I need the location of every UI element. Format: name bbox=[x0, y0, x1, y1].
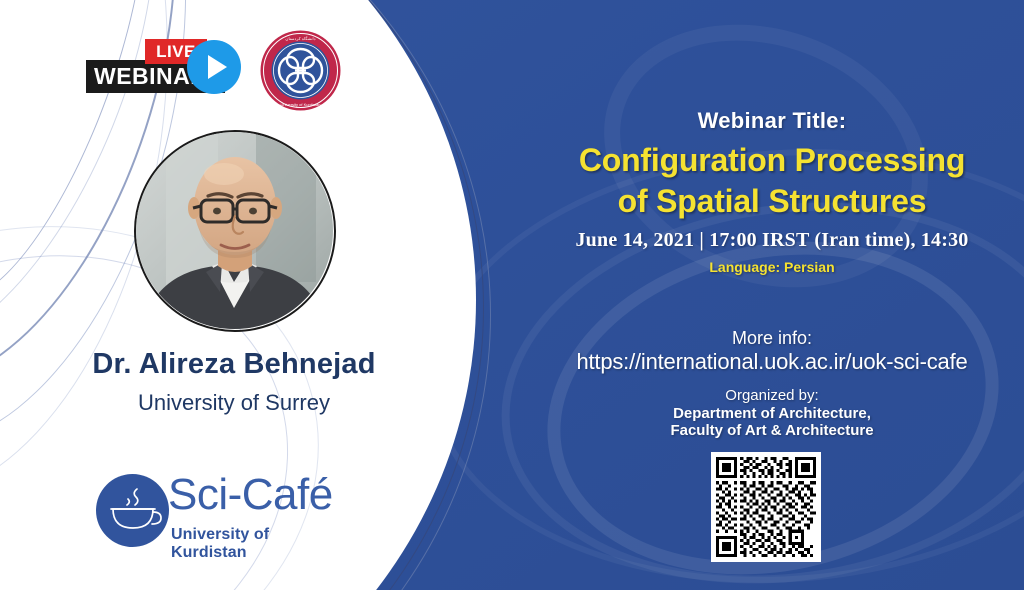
webinar-title-line-1: Configuration Processing bbox=[520, 140, 1024, 181]
speaker-affiliation: University of Surrey bbox=[0, 390, 468, 416]
qr-code[interactable] bbox=[711, 452, 821, 562]
organizer-label: Organized by: bbox=[520, 387, 1024, 404]
organizer-line-1: Department of Architecture, bbox=[520, 405, 1024, 422]
webinar-title-line-2: of Spatial Structures bbox=[520, 181, 1024, 222]
webinar-language: Language: Persian bbox=[520, 259, 1024, 275]
more-info-url[interactable]: https://international.uok.ac.ir/uok-sci-… bbox=[520, 349, 1024, 375]
svg-text:دانشگاه كردستان: دانشگاه كردستان bbox=[285, 36, 315, 41]
speaker-name: Dr. Alireza Behnejad bbox=[0, 348, 468, 381]
more-info-label: More info: bbox=[520, 328, 1024, 349]
play-triangle-icon bbox=[208, 55, 227, 79]
sci-cafe-subtitle: University of Kurdistan bbox=[171, 526, 346, 562]
sci-cafe-logo: Sci-Café University of Kurdistan bbox=[96, 472, 346, 554]
organizer-line-2: Faculty of Art & Architecture bbox=[520, 422, 1024, 439]
live-webinar-badge: WEBINAR LIVE bbox=[86, 36, 246, 96]
webinar-title: Configuration Processing of Spatial Stru… bbox=[520, 140, 1024, 222]
coffee-cup-icon bbox=[96, 474, 169, 547]
webinar-datetime: June 14, 2021 | 17:00 IRST (Iran time), … bbox=[520, 229, 1024, 252]
play-icon bbox=[187, 40, 241, 94]
speaker-portrait-photo bbox=[134, 130, 336, 332]
webinar-title-label: Webinar Title: bbox=[520, 108, 1024, 134]
webinar-poster: WEBINAR LIVE bbox=[0, 0, 1024, 590]
svg-text:University of Kurdistan: University of Kurdistan bbox=[280, 102, 320, 107]
sci-cafe-title: Sci-Café bbox=[168, 473, 333, 517]
university-of-kurdistan-seal-icon: دانشگاه كردستان University of Kurdistan bbox=[259, 29, 342, 112]
